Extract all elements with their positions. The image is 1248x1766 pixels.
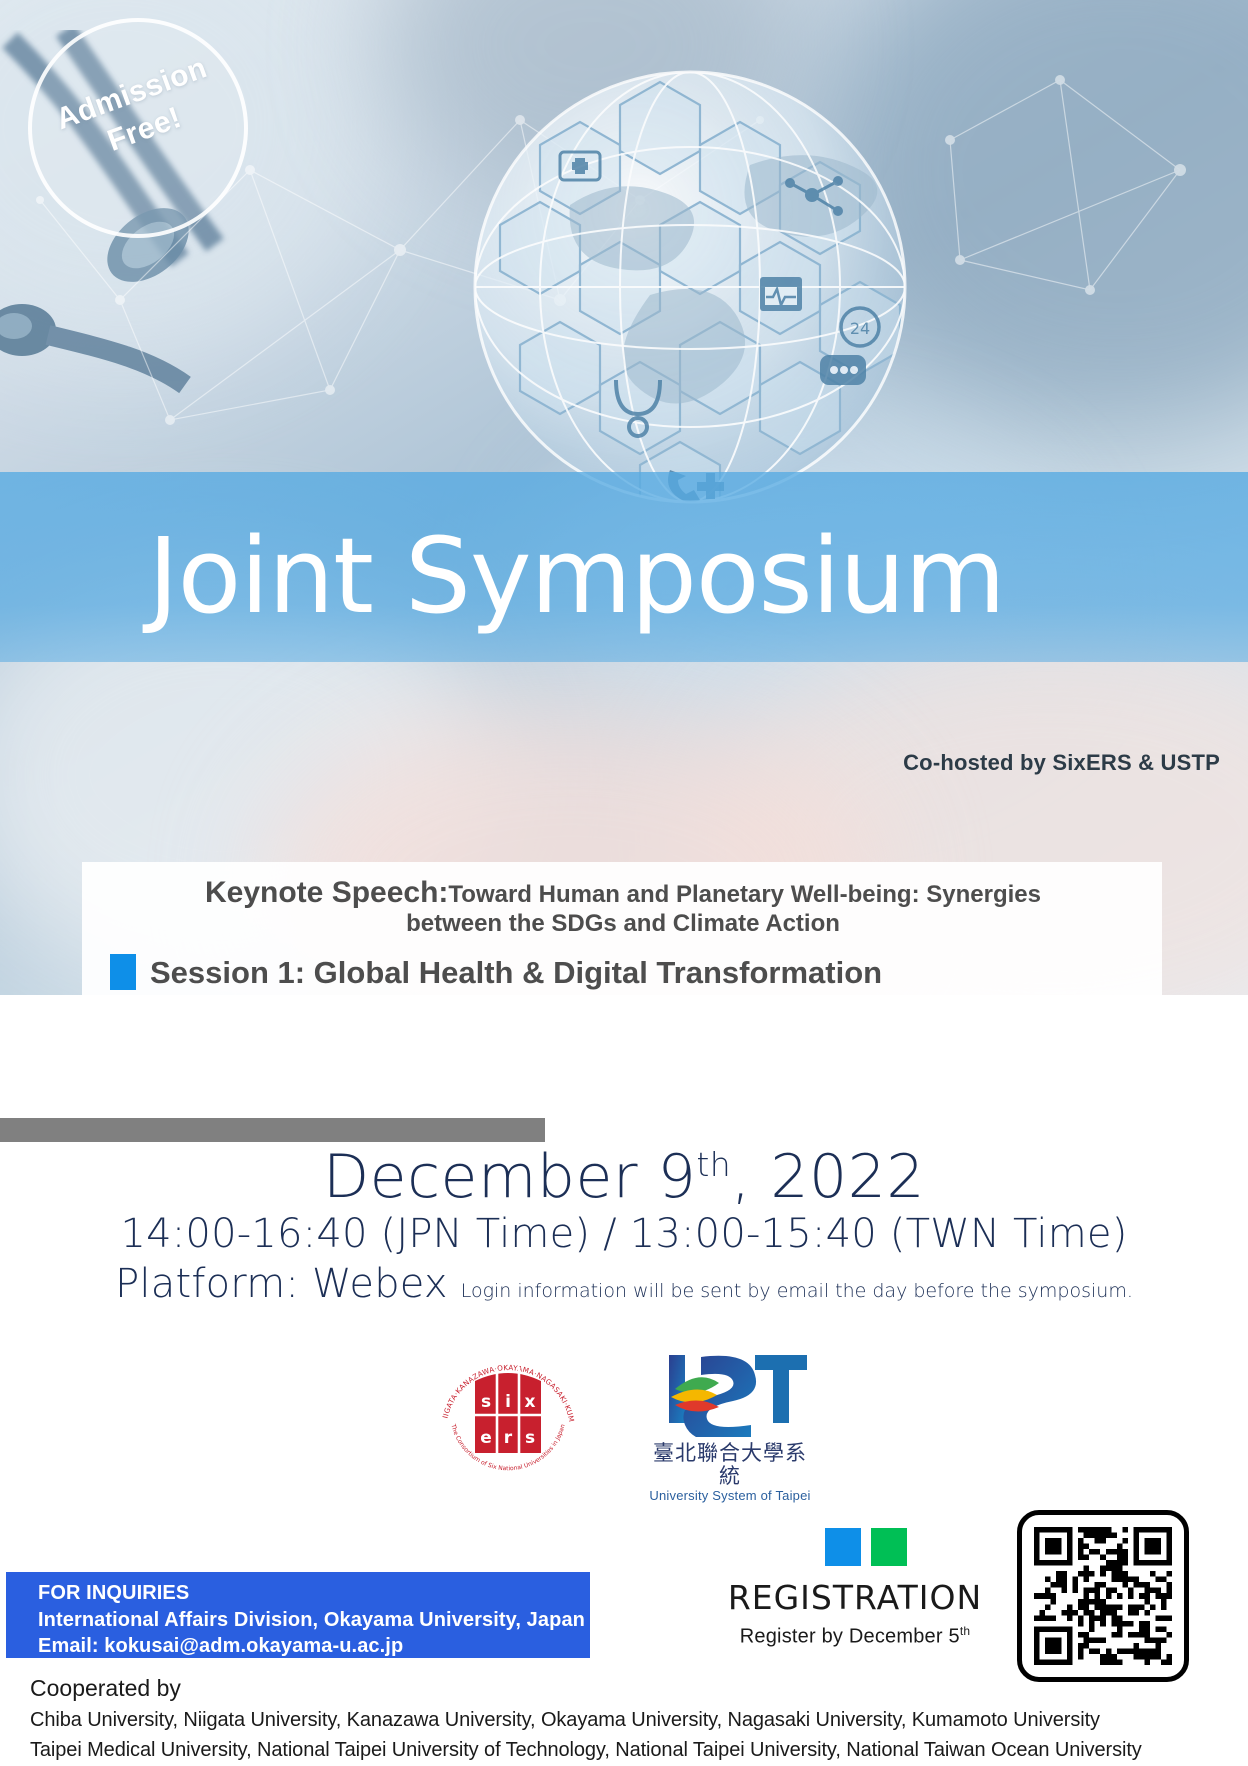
admission-free-badge: Admission Free! xyxy=(28,18,248,238)
ust-name-en: University System of Taipei xyxy=(645,1488,815,1503)
gray-accent-bar xyxy=(0,1118,545,1142)
sixers-cell-i: i xyxy=(505,1392,511,1412)
date-year: , 2022 xyxy=(731,1142,925,1212)
sixers-cell-e: e xyxy=(480,1428,492,1448)
registration-swatch-green xyxy=(871,1528,907,1566)
ust-logo: 臺北聯合大學系統 University System of Taipei xyxy=(645,1345,815,1485)
event-details: December 9th, 2022 14:00-16:40 (JPN Time… xyxy=(0,1146,1248,1309)
sixers-logo: CHIBA·NIIGATA·KANAZAWA·OKAYAMA·NAGASAKI·… xyxy=(433,1345,583,1475)
platform-note: Login information will be sent by email … xyxy=(461,1280,1133,1302)
cohosted-text: Co-hosted by SixERS & USTP xyxy=(903,750,1220,776)
keynote-title-line1: Toward Human and Planetary Well-being: S… xyxy=(448,881,1041,908)
registration-block: REGISTRATION Register by December 5th xyxy=(690,1514,1248,1694)
registration-swatches xyxy=(825,1528,907,1566)
cooperated-by-label: Cooperated by xyxy=(30,1672,1230,1705)
logo-row: CHIBA·NIIGATA·KANAZAWA·OKAYAMA·NAGASAKI·… xyxy=(0,1345,1248,1495)
date-ordinal: th xyxy=(696,1145,731,1184)
registration-deadline-ordinal: th xyxy=(960,1624,970,1638)
ust-mark-icon xyxy=(645,1345,815,1437)
registration-deadline-text: Register by December 5 xyxy=(740,1626,960,1648)
globe-icon: 24 xyxy=(420,55,960,525)
inquiries-email[interactable]: Email: kokusai@adm.okayama-u.ac.jp xyxy=(38,1633,590,1660)
registration-swatch-blue xyxy=(825,1528,861,1566)
keynote-title-line2: between the SDGs and Climate Action xyxy=(406,910,840,937)
footer: Cooperated by Chiba University, Niigata … xyxy=(30,1672,1230,1765)
hero-image: 24 Admission Free! Joint Symposium Co-ho… xyxy=(0,0,1248,995)
sixers-cell-x: x xyxy=(525,1392,536,1412)
cooperated-line-1: Chiba University, Niigata University, Ka… xyxy=(30,1705,1230,1735)
session-1-row: Session 1: Global Health & Digital Trans… xyxy=(110,954,882,990)
program-box: Keynote Speech:Toward Human and Planetar… xyxy=(82,862,1162,995)
svg-text:24: 24 xyxy=(850,319,870,338)
keynote-block: Keynote Speech:Toward Human and Planetar… xyxy=(108,876,1138,938)
page-title: Joint Symposium xyxy=(148,524,1148,628)
registration-title: REGISTRATION xyxy=(690,1578,1020,1617)
sixers-cell-r: r xyxy=(504,1428,513,1448)
inquiries-heading: FOR INQUIRIES xyxy=(38,1580,590,1607)
event-date: December 9th, 2022 xyxy=(0,1146,1248,1209)
session-1-label: Session 1: Global Health & Digital Trans… xyxy=(150,957,882,988)
inquiries-org: International Affairs Division, Okayama … xyxy=(38,1607,590,1634)
qr-code-icon xyxy=(1034,1527,1172,1665)
registration-deadline: Register by December 5th xyxy=(690,1624,1020,1649)
keynote-label: Keynote Speech: xyxy=(205,876,448,909)
platform-text: Platform: Webex xyxy=(115,1261,448,1307)
inquiries-box: FOR INQUIRIES International Affairs Divi… xyxy=(6,1572,590,1658)
event-platform: Platform: Webex Login information will b… xyxy=(0,1259,1248,1309)
date-text: December 9 xyxy=(323,1142,696,1212)
registration-qr-code[interactable] xyxy=(1017,1510,1189,1682)
ust-name-zh: 臺北聯合大學系統 xyxy=(645,1442,815,1488)
cooperated-line-2: Taipei Medical University, National Taip… xyxy=(30,1735,1230,1765)
event-time: 14:00-16:40 (JPN Time) / 13:00-15:40 (TW… xyxy=(0,1209,1248,1259)
sixers-cell-s: s xyxy=(481,1392,491,1412)
session-1-color-swatch xyxy=(110,954,136,990)
sixers-cell-s2: s xyxy=(525,1428,535,1448)
